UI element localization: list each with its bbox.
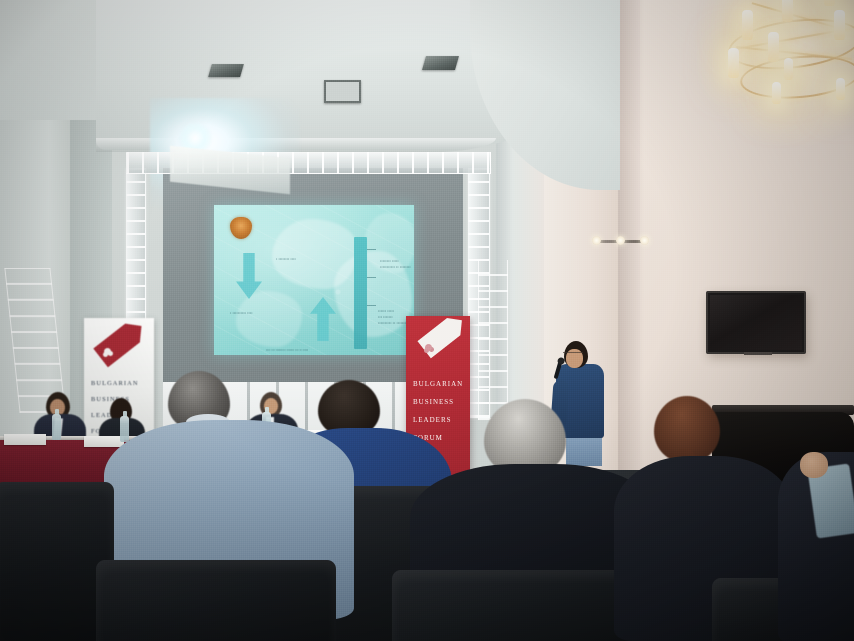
slide-bar-tick bbox=[367, 277, 376, 278]
white-banner-line-1: BULGARIAN bbox=[91, 380, 149, 387]
chandelier-bulb-icon bbox=[772, 82, 781, 104]
tv-screen bbox=[710, 295, 802, 350]
ceiling-vent-icon bbox=[208, 64, 244, 77]
chandelier-bulb-icon bbox=[728, 48, 739, 78]
ceiling-vent-icon bbox=[324, 80, 361, 103]
red-banner-line-2: BUSINESS bbox=[413, 398, 469, 406]
slide-text-line: ••• ••••••• bbox=[378, 315, 393, 320]
slide-bar-tick bbox=[367, 249, 376, 250]
pier-shadow bbox=[618, 0, 644, 470]
sconce-bulb-icon bbox=[616, 236, 625, 245]
slide-text-line: •••••••• ••••• bbox=[380, 259, 399, 264]
slide-text-line: • •••••••• •••• bbox=[276, 257, 296, 262]
slide-text-line: •••••• ••••• bbox=[378, 309, 394, 314]
projection-screen: • •••••••• •••• •••••••• ••••• •••••••••… bbox=[214, 205, 414, 355]
slide-bar-tick bbox=[367, 305, 376, 306]
ceiling-return bbox=[0, 0, 110, 120]
ceiling-vent-icon bbox=[422, 56, 459, 70]
red-banner-line-3: LEADERS bbox=[413, 416, 469, 424]
chandelier-bulb-icon bbox=[782, 0, 793, 22]
name-placard bbox=[4, 434, 46, 445]
chandelier-bulb-icon bbox=[834, 10, 845, 40]
chandelier-bulb-icon bbox=[836, 78, 845, 100]
chandelier-bulb-icon bbox=[768, 32, 779, 62]
sconce-bulb-icon bbox=[640, 236, 649, 245]
tv-foot bbox=[744, 352, 772, 355]
banner-floret-icon bbox=[101, 346, 119, 362]
conference-hall-photo: • •••••••• •••• •••••••• ••••• •••••••••… bbox=[0, 0, 854, 641]
water-bottle bbox=[52, 414, 61, 440]
glasses-icon bbox=[563, 352, 583, 356]
chandelier-bulb-icon bbox=[824, 0, 835, 6]
truss-leg-right bbox=[478, 260, 508, 420]
wall-mounted-tv bbox=[706, 291, 806, 354]
slide-vertical-bar bbox=[354, 237, 367, 349]
chandelier-bulb-icon bbox=[784, 58, 793, 80]
chandelier-bulb-icon bbox=[742, 10, 753, 40]
name-placard bbox=[84, 436, 124, 447]
red-banner-line-1: BULGARIAN bbox=[413, 380, 469, 388]
water-bottle bbox=[120, 416, 129, 442]
sconce-bulb-icon bbox=[592, 236, 601, 245]
slide-caption: •••• ••• ••••••••• ••••••• ••• •• ••••• bbox=[266, 348, 308, 352]
chandelier bbox=[706, 0, 854, 136]
banner-floret-icon bbox=[422, 342, 440, 358]
audience-chair bbox=[96, 560, 336, 641]
wall-sconce bbox=[592, 236, 650, 246]
slide-text-line: •••••••••• •• •••••••• bbox=[378, 321, 407, 326]
audience-hand bbox=[800, 452, 828, 478]
slide-text-line: ••••••••••• •• •••••••• bbox=[380, 265, 411, 270]
slide-text-line: • •••••••••• •••• bbox=[230, 311, 253, 316]
